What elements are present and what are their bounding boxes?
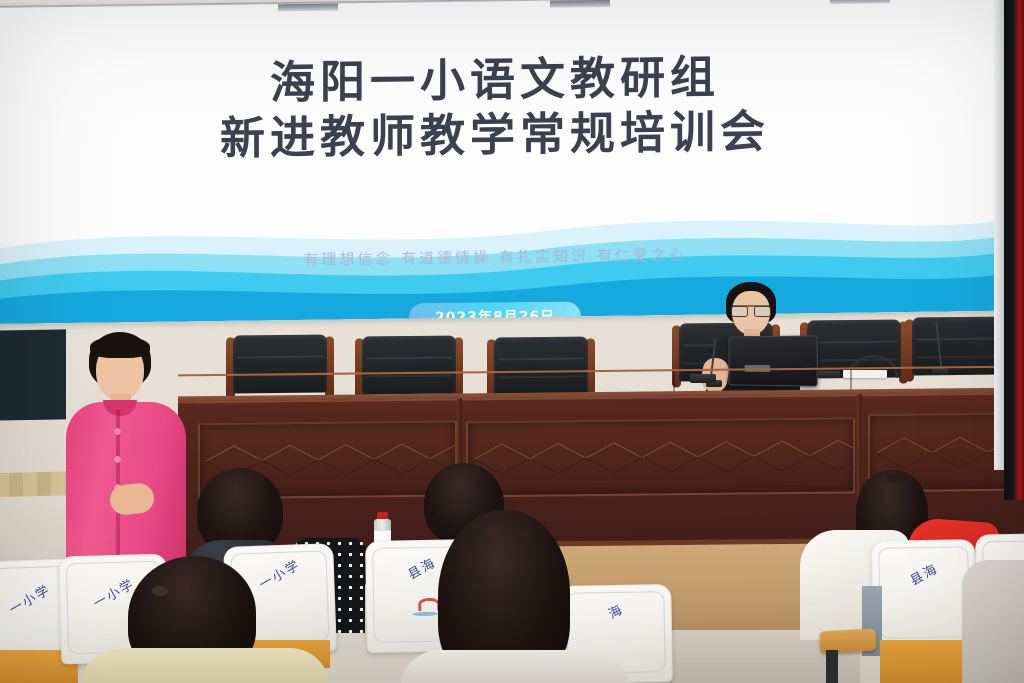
hair-tie — [486, 528, 504, 539]
blouse-button — [114, 456, 121, 463]
projection-screen: 海阳一小语文教研组 新进教师教学常规培训会 有理想信念 有道德情操 有扎实知识 … — [0, 0, 1000, 324]
window-frame-light — [994, 0, 1004, 470]
panel-diamond-pattern — [474, 438, 854, 476]
audience-shoulders-center-front — [400, 650, 630, 683]
window-frame-dark-red — [1004, 0, 1024, 500]
mic-head — [940, 318, 945, 327]
audience-shoulders-left-front — [80, 648, 330, 683]
slide-title-line-2: 新进教师教学常规培训会 — [0, 102, 1000, 170]
audience-body-far-right — [962, 560, 1024, 683]
seat-cover-text: 县海 — [874, 540, 974, 607]
stage-panel-center — [466, 417, 855, 497]
eyeglasses-icon — [731, 305, 771, 317]
hair-tie — [152, 586, 168, 596]
seat-cover-text: 海 — [562, 575, 669, 646]
blouse-button — [114, 428, 121, 435]
mic-head — [710, 334, 715, 343]
slide-title: 海阳一小语文教研组 新进教师教学常规培训会 — [0, 47, 1000, 170]
seat-logo-arc — [418, 598, 440, 611]
conference-room-photo: 海阳一小语文教研组 新进教师教学常规培训会 有理想信念 有道德情操 有扎实知识 … — [0, 0, 1024, 683]
screen-mount-bracket — [550, 0, 610, 8]
left-dark-monitor-panel — [0, 329, 66, 420]
presenter-fringe — [90, 336, 150, 358]
armrest-post — [826, 650, 838, 683]
screen-mount-bracket — [278, 3, 338, 11]
hair-tie — [886, 474, 900, 483]
screen-mount-bracket — [830, 0, 890, 4]
seat-logo-wave — [412, 612, 438, 616]
